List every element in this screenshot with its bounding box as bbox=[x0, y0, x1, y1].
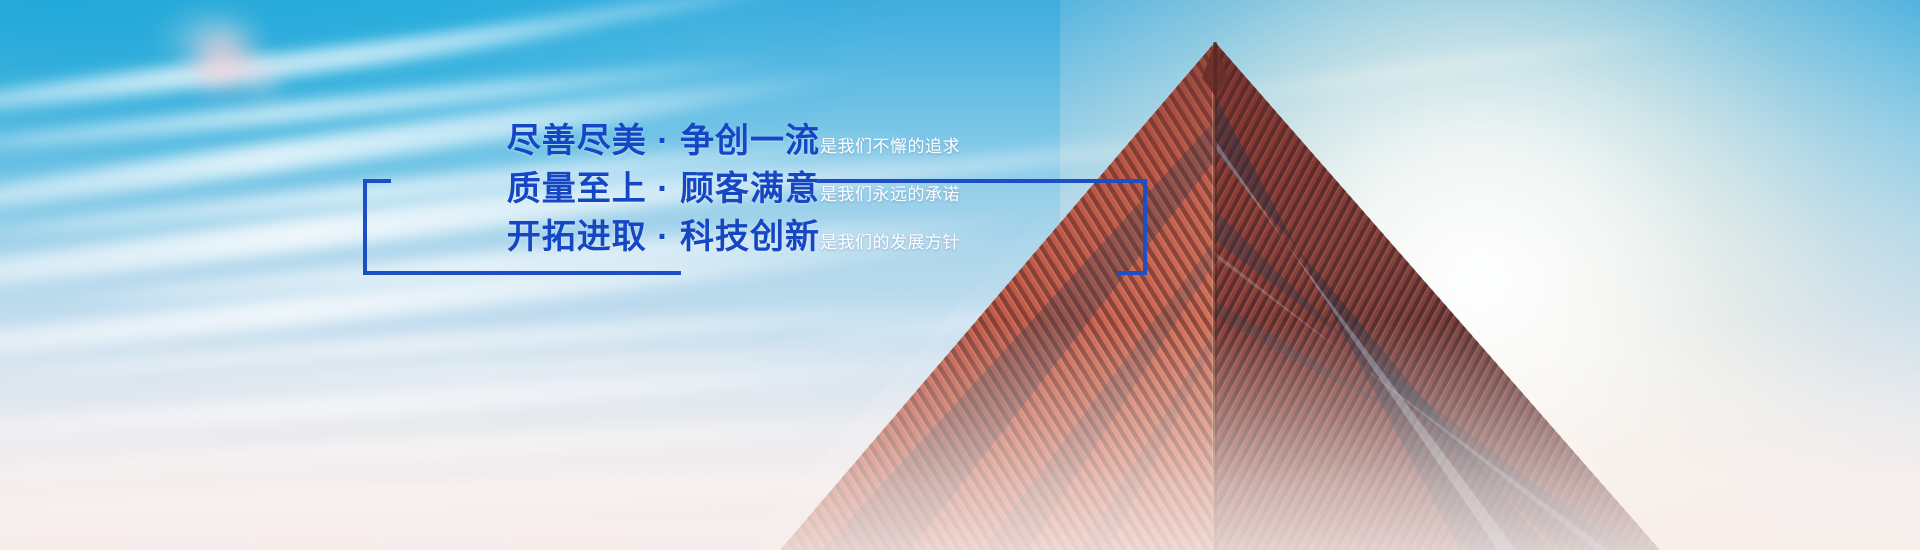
horizon-haze bbox=[0, 320, 1920, 550]
slogan-2-sub: 是我们永远的承诺 bbox=[820, 185, 960, 204]
slogan-3-main: 开拓进取 · 科技创新 bbox=[507, 218, 820, 256]
lens-flare-spot-small bbox=[240, 58, 284, 102]
slogan-line-1: 尽善尽美 · 争创一流是我们不懈的追求 bbox=[300, 124, 960, 158]
slogan-group: 尽善尽美 · 争创一流是我们不懈的追求 质量至上 · 顾客满意是我们永远的承诺 … bbox=[300, 124, 960, 254]
slogan-3-sub: 是我们的发展方针 bbox=[820, 233, 960, 252]
hero-banner: 尽善尽美 · 争创一流是我们不懈的追求 质量至上 · 顾客满意是我们永远的承诺 … bbox=[0, 0, 1920, 550]
frame-bottom-left-rule bbox=[363, 271, 681, 275]
frame-right-edge bbox=[1143, 179, 1147, 275]
slogan-2-main: 质量至上 · 顾客满意 bbox=[507, 170, 820, 208]
slogan-1-main: 尽善尽美 · 争创一流 bbox=[507, 122, 820, 160]
slogan-line-3: 开拓进取 · 科技创新是我们的发展方针 bbox=[300, 220, 960, 254]
slogan-1-sub: 是我们不懈的追求 bbox=[820, 137, 960, 156]
frame-bottom-right-stub bbox=[1117, 271, 1147, 275]
slogan-line-2: 质量至上 · 顾客满意是我们永远的承诺 bbox=[300, 172, 960, 206]
